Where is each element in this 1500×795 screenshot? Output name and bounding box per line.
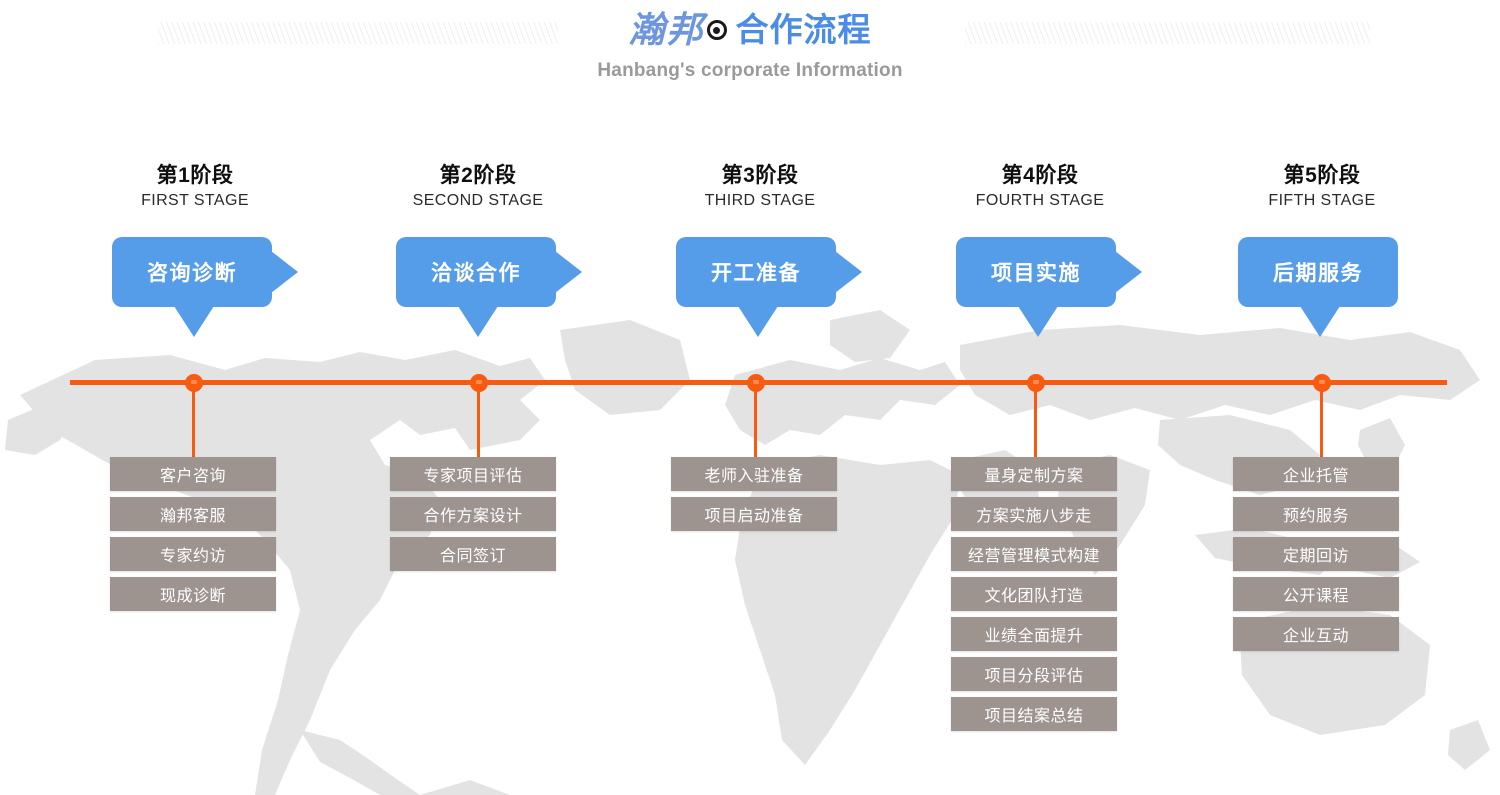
stage-bubble-label-4: 项目实施	[991, 257, 1081, 287]
list-item[interactable]: 业绩全面提升	[951, 617, 1117, 651]
page-header: 瀚邦合作流程 Hanbang's corporate Information	[0, 0, 1500, 100]
stage-title-cn-2: 第2阶段	[368, 162, 588, 189]
timeline-dot-4[interactable]	[1027, 374, 1045, 392]
stage-items-1: 客户咨询 瀚邦客服 专家约访 现成诊断	[110, 457, 276, 617]
stage-header-4: 第4阶段 FOURTH STAGE	[930, 162, 1150, 213]
timeline-connector-5	[1320, 383, 1323, 457]
list-item[interactable]: 合作方案设计	[390, 497, 556, 531]
page-subtitle: Hanbang's corporate Information	[0, 60, 1500, 82]
list-item[interactable]: 专家约访	[110, 537, 276, 571]
list-item[interactable]: 项目分段评估	[951, 657, 1117, 691]
timeline-dot-2[interactable]	[470, 374, 488, 392]
stage-bubble-4[interactable]: 项目实施	[956, 237, 1116, 307]
stage-items-3: 老师入驻准备 项目启动准备	[671, 457, 837, 537]
list-item[interactable]: 项目启动准备	[671, 497, 837, 531]
list-item[interactable]: 预约服务	[1233, 497, 1399, 531]
list-item[interactable]: 经营管理模式构建	[951, 537, 1117, 571]
stage-title-en-3: THIRD STAGE	[650, 189, 870, 213]
timeline-connector-1	[192, 383, 195, 457]
stage-bubble-label-2: 洽谈合作	[431, 257, 521, 287]
list-item[interactable]: 专家项目评估	[390, 457, 556, 491]
stage-title-en-1: FIRST STAGE	[85, 189, 305, 213]
list-item[interactable]: 合同签订	[390, 537, 556, 571]
timeline-dot-1[interactable]	[185, 374, 203, 392]
stage-title-en-2: SECOND STAGE	[368, 189, 588, 213]
list-item[interactable]: 量身定制方案	[951, 457, 1117, 491]
stage-title-cn-4: 第4阶段	[930, 162, 1150, 189]
circled-ring-icon	[707, 20, 727, 40]
stage-title-en-4: FOURTH STAGE	[930, 189, 1150, 213]
stage-bubble-3[interactable]: 开工准备	[676, 237, 836, 307]
page-title-text: 合作流程	[736, 11, 872, 48]
stage-bubble-label-1: 咨询诊断	[147, 257, 237, 287]
stage-bubble-label-5: 后期服务	[1273, 257, 1363, 287]
stage-header-2: 第2阶段 SECOND STAGE	[368, 162, 588, 213]
stage-items-2: 专家项目评估 合作方案设计 合同签订	[390, 457, 556, 577]
stage-title-cn-5: 第5阶段	[1212, 162, 1432, 189]
stage-bubble-5[interactable]: 后期服务	[1238, 237, 1398, 307]
list-item[interactable]: 项目结案总结	[951, 697, 1117, 731]
timeline-connector-2	[477, 383, 480, 457]
brand-logo-text: 瀚邦	[628, 9, 704, 51]
list-item[interactable]: 定期回访	[1233, 537, 1399, 571]
list-item[interactable]: 客户咨询	[110, 457, 276, 491]
bubble-tail-icon-4	[1018, 306, 1058, 337]
list-item[interactable]: 老师入驻准备	[671, 457, 837, 491]
list-item[interactable]: 文化团队打造	[951, 577, 1117, 611]
list-item[interactable]: 公开课程	[1233, 577, 1399, 611]
stage-header-5: 第5阶段 FIFTH STAGE	[1212, 162, 1432, 213]
timeline-dot-5[interactable]	[1313, 374, 1331, 392]
stage-header-1: 第1阶段 FIRST STAGE	[85, 162, 305, 213]
page-title: 瀚邦合作流程	[0, 8, 1500, 52]
stage-title-en-5: FIFTH STAGE	[1212, 189, 1432, 213]
stage-bubble-1[interactable]: 咨询诊断	[112, 237, 272, 307]
timeline-dot-3[interactable]	[747, 374, 765, 392]
timeline-connector-3	[754, 383, 757, 457]
stage-bubble-2[interactable]: 洽谈合作	[396, 237, 556, 307]
bubble-tail-icon-3	[738, 306, 778, 337]
list-item[interactable]: 企业互动	[1233, 617, 1399, 651]
process-flow-infographic: 瀚邦合作流程 Hanbang's corporate Information 第…	[0, 0, 1500, 795]
stage-bubble-label-3: 开工准备	[711, 257, 801, 287]
stage-title-cn-1: 第1阶段	[85, 162, 305, 189]
stage-title-cn-3: 第3阶段	[650, 162, 870, 189]
list-item[interactable]: 现成诊断	[110, 577, 276, 611]
stage-items-5: 企业托管 预约服务 定期回访 公开课程 企业互动	[1233, 457, 1399, 657]
stage-header-3: 第3阶段 THIRD STAGE	[650, 162, 870, 213]
bubble-tail-icon-2	[458, 306, 498, 337]
list-item[interactable]: 方案实施八步走	[951, 497, 1117, 531]
stage-items-4: 量身定制方案 方案实施八步走 经营管理模式构建 文化团队打造 业绩全面提升 项目…	[951, 457, 1117, 737]
timeline-connector-4	[1034, 383, 1037, 457]
bubble-tail-icon-5	[1300, 306, 1340, 337]
bubble-tail-icon-1	[174, 306, 214, 337]
list-item[interactable]: 瀚邦客服	[110, 497, 276, 531]
list-item[interactable]: 企业托管	[1233, 457, 1399, 491]
